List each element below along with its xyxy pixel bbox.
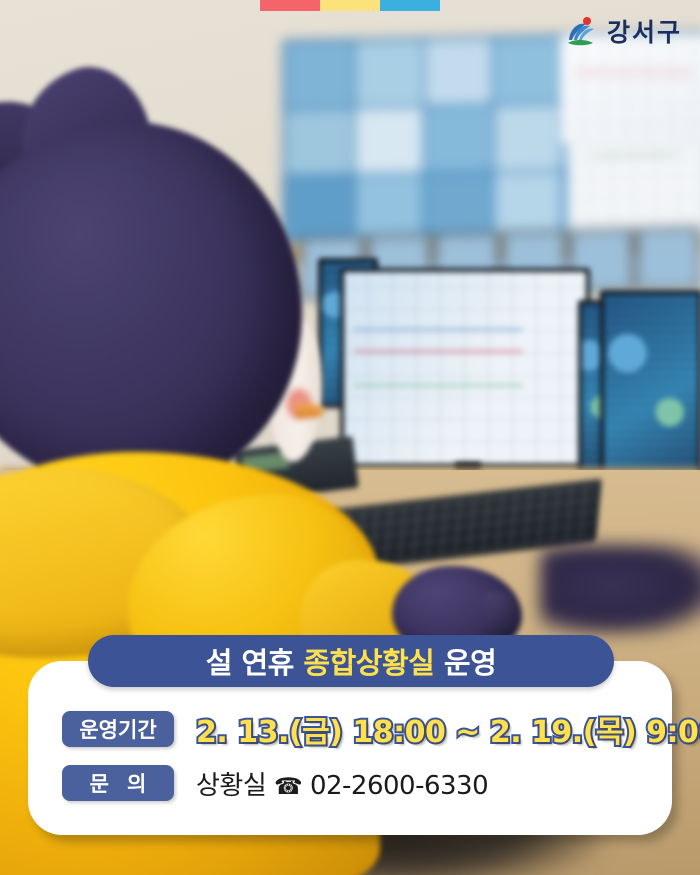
info-row-inquiry: 문의 상황실 ☎ 02-2600-6330: [62, 760, 652, 806]
title-highlight: 종합상황실: [303, 646, 434, 680]
title-prefix: 설 연휴: [206, 646, 304, 680]
poster-root: 강서구 운영기간 2. 13.(금) 18:00 ~ 2. 19.(목) 9:0…: [0, 0, 700, 875]
background-chair-shadow: [540, 545, 700, 635]
value-inquiry[interactable]: 상황실 ☎ 02-2600-6330: [196, 765, 488, 802]
logo-text: 강서구: [607, 20, 682, 45]
page-title: 설 연휴 종합상황실 운영: [206, 640, 497, 682]
telephone-icon: ☎: [274, 774, 302, 800]
inquiry-phone-number: 02-2600-6330: [302, 771, 488, 801]
inquiry-office-label: 상황실: [196, 771, 274, 801]
decorative-color-bars: [0, 0, 700, 11]
gangseo-gu-logo[interactable]: 강서구: [566, 16, 682, 48]
label-operating-period: 운영기간: [62, 711, 174, 747]
title-banner: 설 연휴 종합상황실 운영: [88, 635, 614, 687]
mascot-head: [0, 122, 302, 492]
info-row-period: 운영기간 2. 13.(금) 18:00 ~ 2. 19.(목) 9:00: [62, 706, 652, 752]
value-operating-period: 2. 13.(금) 18:00 ~ 2. 19.(목) 9:00: [196, 707, 700, 751]
color-bar-yellow: [320, 0, 380, 11]
title-suffix: 운영: [434, 646, 496, 680]
gangseo-gu-emblem-icon: [566, 16, 600, 48]
info-rows: 운영기간 2. 13.(금) 18:00 ~ 2. 19.(목) 9:00 문의…: [62, 706, 652, 806]
color-bar-blue: [380, 0, 440, 11]
info-card: 운영기간 2. 13.(금) 18:00 ~ 2. 19.(목) 9:00 문의…: [28, 661, 672, 835]
mascot-beak: [296, 404, 324, 418]
label-inquiry: 문의: [62, 765, 174, 801]
color-bar-red: [260, 0, 320, 11]
